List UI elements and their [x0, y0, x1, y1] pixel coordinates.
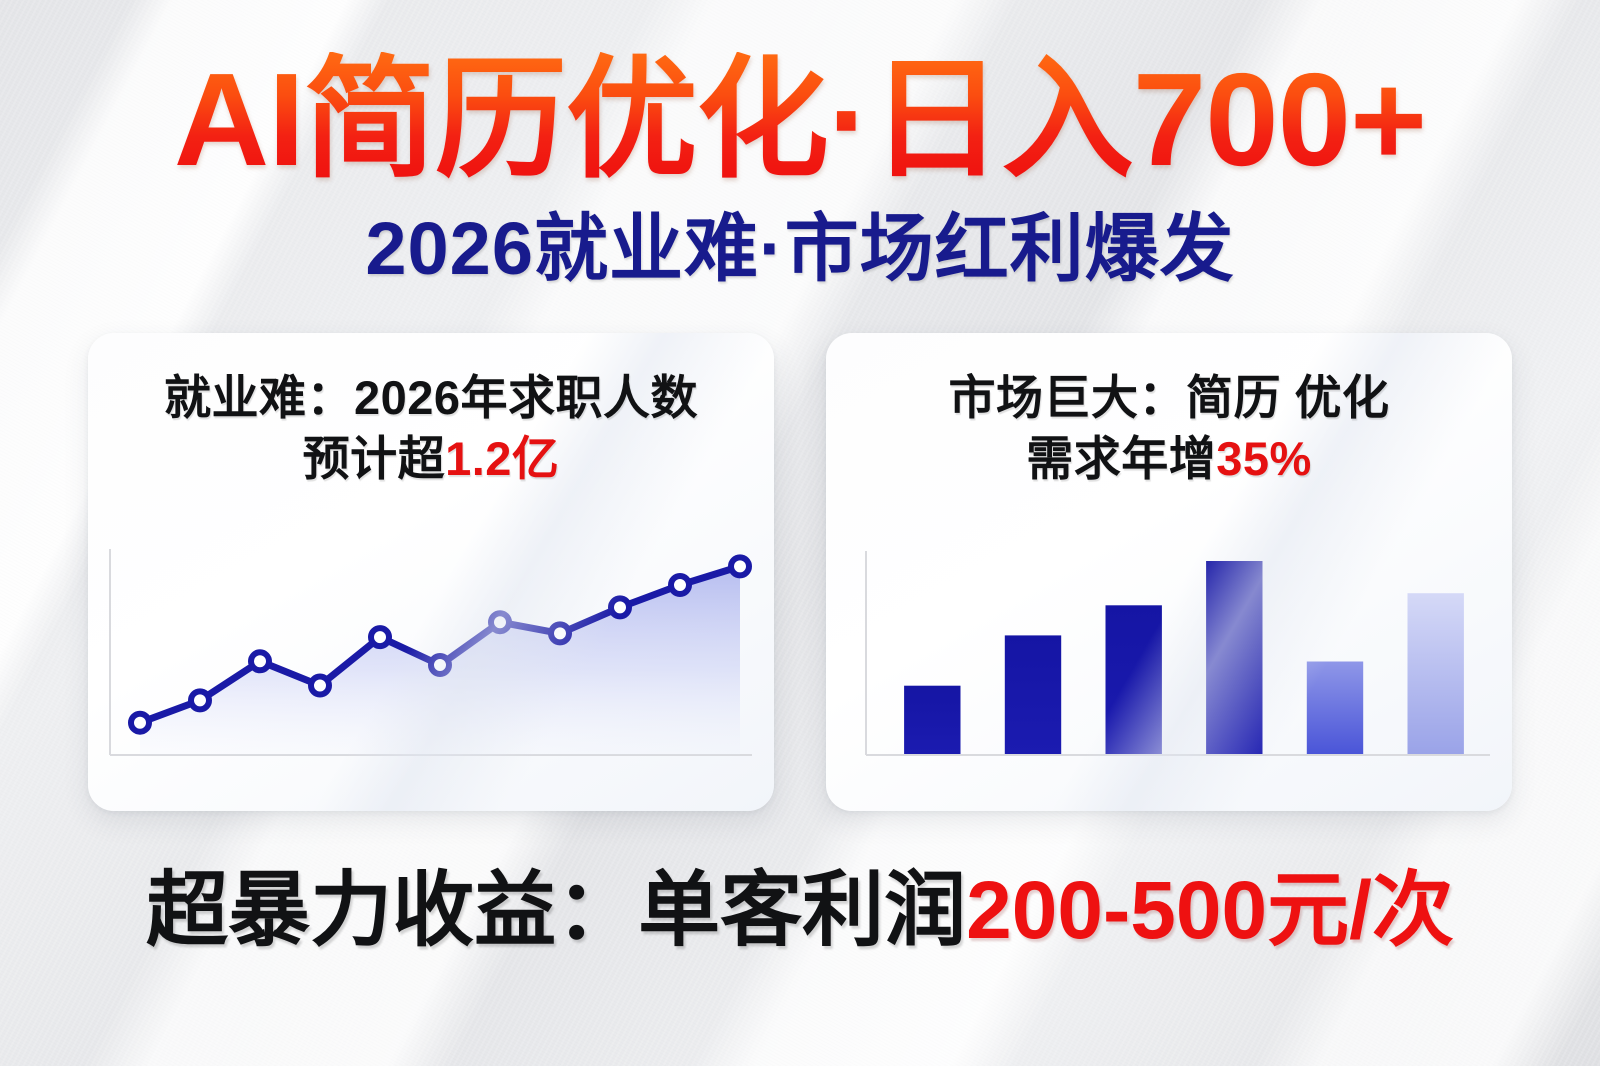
- card-title-highlight: 1.2亿: [445, 432, 559, 485]
- line-data-point: [611, 598, 629, 616]
- bar-series: [904, 561, 1464, 754]
- line-data-point: [131, 714, 149, 732]
- line-data-point: [251, 652, 269, 670]
- bar-item: [1106, 605, 1162, 754]
- line-chart-jobseekers: [88, 537, 774, 789]
- line-data-point: [311, 677, 329, 695]
- bar-chart-svg: [826, 537, 1512, 789]
- page-title: AI简历优化·日入700+: [0, 52, 1600, 188]
- footer-amount: 200-500元/次: [966, 865, 1454, 956]
- line-data-point: [731, 557, 749, 575]
- card-title-line1: 就业难：2026年求职人数: [164, 371, 698, 424]
- bar-chart-market: [826, 537, 1512, 789]
- card-title-market: 市场巨大：简历 优化 需求年增35%: [826, 333, 1512, 489]
- footer-label: 超暴力收益：单客利润: [146, 865, 966, 956]
- card-title-line2-prefix: 需求年增: [1026, 432, 1216, 485]
- page-subtitle: 2026就业难·市场红利爆发: [0, 210, 1600, 288]
- bar-item: [1408, 593, 1464, 754]
- stat-card-market: 市场巨大：简历 优化 需求年增35%: [826, 333, 1512, 811]
- card-title-highlight: 35%: [1216, 432, 1312, 485]
- bar-item: [904, 686, 960, 754]
- line-chart-svg: [88, 537, 774, 789]
- card-title-jobseekers: 就业难：2026年求职人数 预计超1.2亿: [88, 333, 774, 489]
- line-data-point: [371, 628, 389, 646]
- card-title-line2-prefix: 预计超: [303, 432, 446, 485]
- poster-canvas: AI简历优化·日入700+ 2026就业难·市场红利爆发 就业难：2026年求职…: [0, 0, 1600, 1066]
- bar-item: [1307, 662, 1363, 755]
- card-title-line1: 市场巨大：简历 优化: [948, 371, 1389, 424]
- bar-item: [1206, 561, 1262, 754]
- footer-banner: 超暴力收益：单客利润200-500元/次: [0, 868, 1600, 954]
- line-data-point: [491, 613, 509, 631]
- line-data-point: [191, 691, 209, 709]
- line-data-point: [431, 656, 449, 674]
- line-data-point: [671, 576, 689, 594]
- line-data-point: [551, 624, 569, 642]
- stat-card-jobseekers: 就业难：2026年求职人数 预计超1.2亿: [88, 333, 774, 811]
- bar-item: [1005, 635, 1061, 754]
- stat-card-row: 就业难：2026年求职人数 预计超1.2亿: [88, 333, 1512, 813]
